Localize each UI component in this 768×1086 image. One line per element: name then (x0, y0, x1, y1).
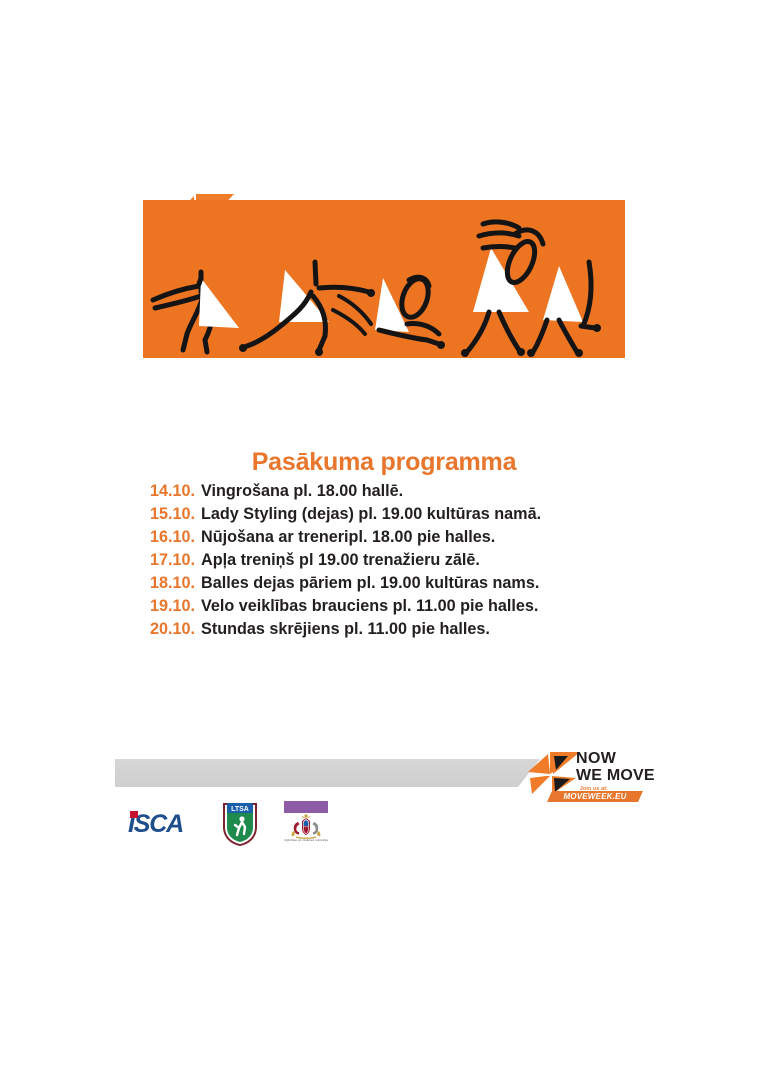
programme-description: Balles dejas pāriem pl. 19.00 kultūras n… (201, 572, 539, 595)
programme-description: Vingrošana pl. 18.00 hallē. (201, 480, 403, 503)
moveweek-url-text: MOVEWEEK.EU (563, 792, 626, 801)
programme-title: Pasākuma programma (0, 448, 768, 477)
ltsa-logo: LTSA (220, 801, 260, 847)
programme-date: 16.10. (150, 526, 195, 549)
list-item: 18.10. Balles dejas pāriem pl. 19.00 kul… (150, 572, 670, 595)
nowwemove-line2: WE MOVE (576, 768, 655, 785)
list-item: 15.10. Lady Styling (dejas) pl. 19.00 ku… (150, 503, 670, 526)
svg-text:LTSA: LTSA (231, 806, 249, 813)
programme-date: 14.10. (150, 480, 195, 503)
nowwemove-line1: NOW (576, 751, 655, 768)
latvia-coat-of-arms-icon (278, 813, 334, 841)
list-item: 20.10. Stundas skrējiens pl. 11.00 pie h… (150, 618, 670, 641)
list-item: 16.10. Nūjošana ar treneripl. 18.00 pie … (150, 526, 670, 549)
stick-figures-illustration (143, 200, 625, 358)
programme-description: Apļa treniņš pl 19.00 trenažieru zālē. (201, 549, 480, 572)
nowwemove-wordmark: NOW WE MOVE (576, 751, 655, 785)
list-item: 14.10. Vingrošana pl. 18.00 hallē. (150, 480, 670, 503)
footer-divider-bar (115, 759, 540, 787)
moveweek-url-badge[interactable]: MOVEWEEK.EU (547, 791, 643, 802)
poster-page: Latvijas Veselības sporta nedēļa 14.10.2… (0, 0, 768, 1086)
isca-logo-dot-icon (130, 811, 138, 818)
programme-description: Lady Styling (dejas) pl. 19.00 kultūras … (201, 503, 541, 526)
programme-date: 15.10. (150, 503, 195, 526)
partner-logos: ISCA LTSA (128, 800, 334, 848)
hero-banner (143, 200, 625, 358)
programme-date: 19.10. (150, 595, 195, 618)
ministry-logo-bar (284, 801, 328, 813)
ministry-logo: Izglītības un zinātnes ministrija (278, 801, 334, 847)
programme-date: 18.10. (150, 572, 195, 595)
programme-description: Nūjošana ar treneripl. 18.00 pie halles. (201, 526, 495, 549)
programme-list: 14.10. Vingrošana pl. 18.00 hallē. 15.10… (150, 480, 670, 641)
programme-description: Velo veiklības brauciens pl. 11.00 pie h… (201, 595, 538, 618)
list-item: 19.10. Velo veiklības brauciens pl. 11.0… (150, 595, 670, 618)
isca-logo-text: ISCA (128, 810, 202, 838)
programme-description: Stundas skrējiens pl. 11.00 pie halles. (201, 618, 490, 641)
isca-logo: ISCA (128, 810, 202, 838)
programme-date: 17.10. (150, 549, 195, 572)
ministry-logo-text: Izglītības un zinātnes ministrija (278, 839, 334, 843)
list-item: 17.10. Apļa treniņš pl 19.00 trenažieru … (150, 549, 670, 572)
poster-header: Latvijas Veselības sporta nedēļa 14.10.2… (0, 95, 768, 175)
programme-date: 20.10. (150, 618, 195, 641)
